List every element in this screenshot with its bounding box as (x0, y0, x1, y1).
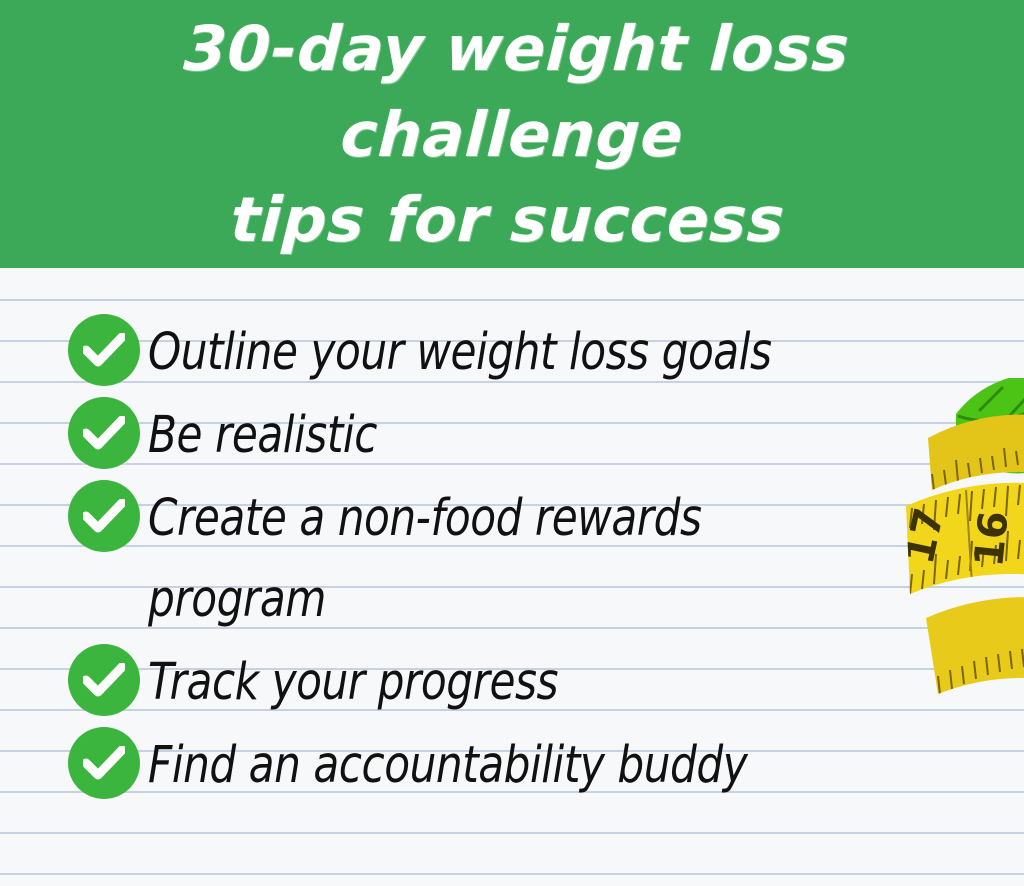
tip-label: Outline your weight loss goals (148, 312, 772, 393)
list-item: Find an accountability buddy (68, 725, 918, 806)
list-item: Be realistic (68, 395, 918, 476)
tips-list: Outline your weight loss goals Be realis… (68, 312, 918, 808)
check-icon (68, 644, 140, 716)
check-icon (68, 480, 140, 552)
list-item: Create a non-food rewards program (68, 478, 918, 640)
list-item: Outline your weight loss goals (68, 312, 918, 393)
check-icon (68, 314, 140, 386)
tip-label: Create a non-food rewards program (148, 478, 856, 640)
check-icon (68, 727, 140, 799)
page-title: 30-day weight loss challenge tips for su… (33, 6, 990, 263)
tip-label: Be realistic (148, 395, 377, 476)
weight-loss-tips-infographic: 30-day weight loss challenge tips for su… (0, 0, 1024, 886)
tip-label: Find an accountability buddy (148, 725, 747, 806)
header-banner: 30-day weight loss challenge tips for su… (0, 0, 1024, 268)
tip-label: Track your progress (148, 642, 558, 723)
check-icon (68, 397, 140, 469)
list-item: Track your progress (68, 642, 918, 723)
